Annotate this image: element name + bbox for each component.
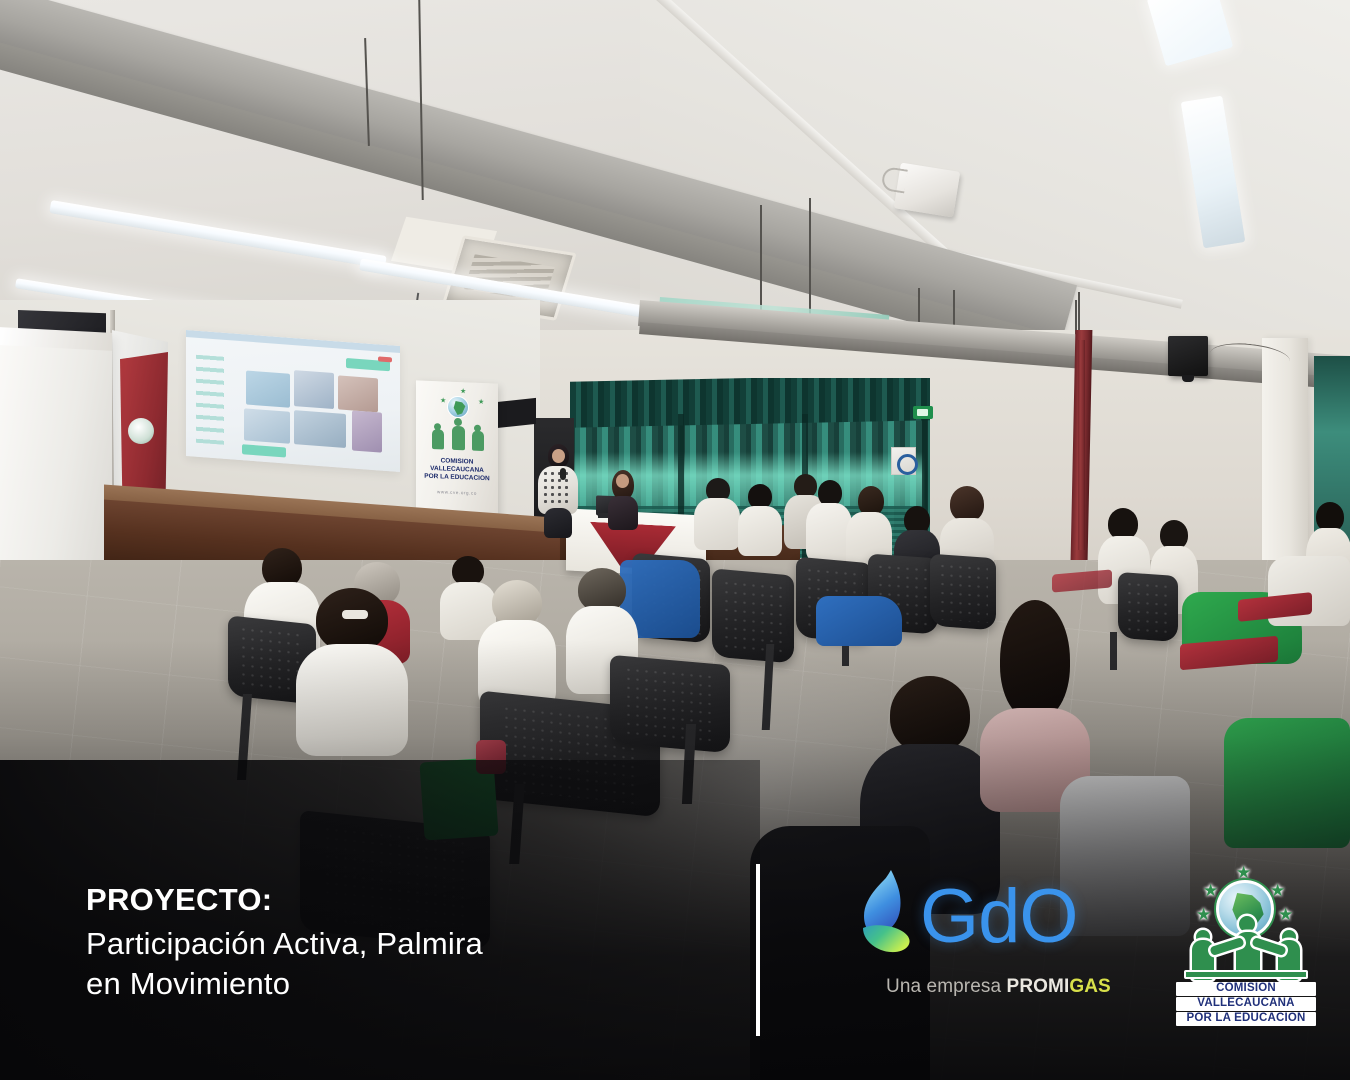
screenshot-root: ★ ★ ★ COMISION VALLECAUCANA POR LA EDUCA… [0, 0, 1350, 1080]
red-bag [476, 740, 506, 774]
star-icon: ★ [1270, 882, 1285, 899]
slide-photo [294, 370, 334, 409]
headband-icon [342, 610, 368, 619]
gdo-tagline-prefix: Una empresa [886, 976, 1001, 997]
star-icon: ★ [440, 397, 446, 404]
presenter-assistant [604, 470, 644, 532]
star-icon: ★ [478, 399, 484, 406]
wall-sign [891, 447, 916, 475]
comision-line-3: POR LA EDUCACION [1176, 1012, 1316, 1026]
comision-line-2: VALLECAUCANA [1176, 997, 1316, 1011]
star-icon: ★ [460, 388, 466, 395]
gdo-brand-gas: GAS [1069, 976, 1110, 997]
gdo-tagline: Una empresa PROMIGAS [886, 976, 1111, 998]
hanger-rod [809, 198, 811, 318]
figures-icon [432, 415, 484, 451]
slide-accent-dot [378, 356, 392, 362]
figures-icon [1190, 914, 1302, 972]
gdo-wordmark: GdO [920, 862, 1078, 972]
audience-member [694, 478, 740, 548]
project-title-line-1: Participación Activa, Palmira [86, 924, 706, 964]
rollup-line-3: POR LA EDUCACION [421, 473, 493, 484]
microphone-icon [560, 468, 566, 480]
rollup-url: www.cve.org.co [421, 489, 493, 497]
comision-vallecaucana-logo: ★ ★ ★ ★ ★ COMISION VALLECAUCANA POR LA E… [1176, 866, 1316, 1032]
slide-sidebar-text [196, 355, 224, 445]
slide-photo [246, 370, 290, 407]
audience-member [296, 588, 408, 748]
logo-underline [1184, 970, 1308, 979]
exit-sign-icon [913, 406, 933, 419]
gdo-logo: GdO Una empresa PROMIGAS [846, 862, 1096, 1012]
chair [712, 568, 794, 663]
jacket-on-chair [816, 596, 902, 646]
chair [1118, 572, 1178, 642]
rollup-banner-text: COMISION VALLECAUCANA POR LA EDUCACION [421, 457, 493, 484]
projection-screen [186, 330, 400, 472]
red-column-highlight [1078, 340, 1085, 550]
audience-member [980, 600, 1090, 800]
gdo-brand-promi: PROMI [1007, 976, 1070, 997]
project-label: PROYECTO: [86, 884, 706, 915]
audience-member-green-uniform [1224, 718, 1350, 858]
slide-photo [352, 410, 382, 452]
project-title-line-2: en Movimiento [86, 964, 706, 1004]
vertical-divider [756, 864, 760, 1036]
comision-line-1: COMISION [1176, 982, 1316, 996]
speaker-icon [1168, 336, 1208, 376]
audience-member [478, 580, 556, 700]
junction-box-icon [894, 163, 960, 218]
flag-crest-icon [128, 418, 154, 444]
star-icon: ★ [1236, 864, 1251, 881]
star-icon: ★ [1203, 882, 1218, 899]
slide-photo [294, 410, 346, 448]
comision-logo-text: COMISION VALLECAUCANA POR LA EDUCACION [1176, 982, 1316, 1027]
project-banner: PROYECTO: Participación Activa, Palmira … [86, 884, 706, 1003]
rollup-banner: ★ ★ ★ COMISION VALLECAUCANA POR LA EDUCA… [416, 380, 498, 517]
slide-photo [244, 408, 290, 443]
doorway-header [496, 398, 536, 428]
audience-member [738, 484, 782, 552]
chair [610, 655, 730, 753]
presenter-speaker [536, 444, 580, 536]
slide-photo [338, 375, 378, 412]
curtain-valance [570, 378, 930, 428]
chair-leg [1110, 632, 1117, 670]
slide-accent-bar [242, 444, 286, 457]
flame-leaf-icon [858, 868, 920, 968]
landmass-shape [453, 401, 466, 415]
hanger-rod [760, 205, 762, 315]
white-pillar [1262, 338, 1308, 568]
